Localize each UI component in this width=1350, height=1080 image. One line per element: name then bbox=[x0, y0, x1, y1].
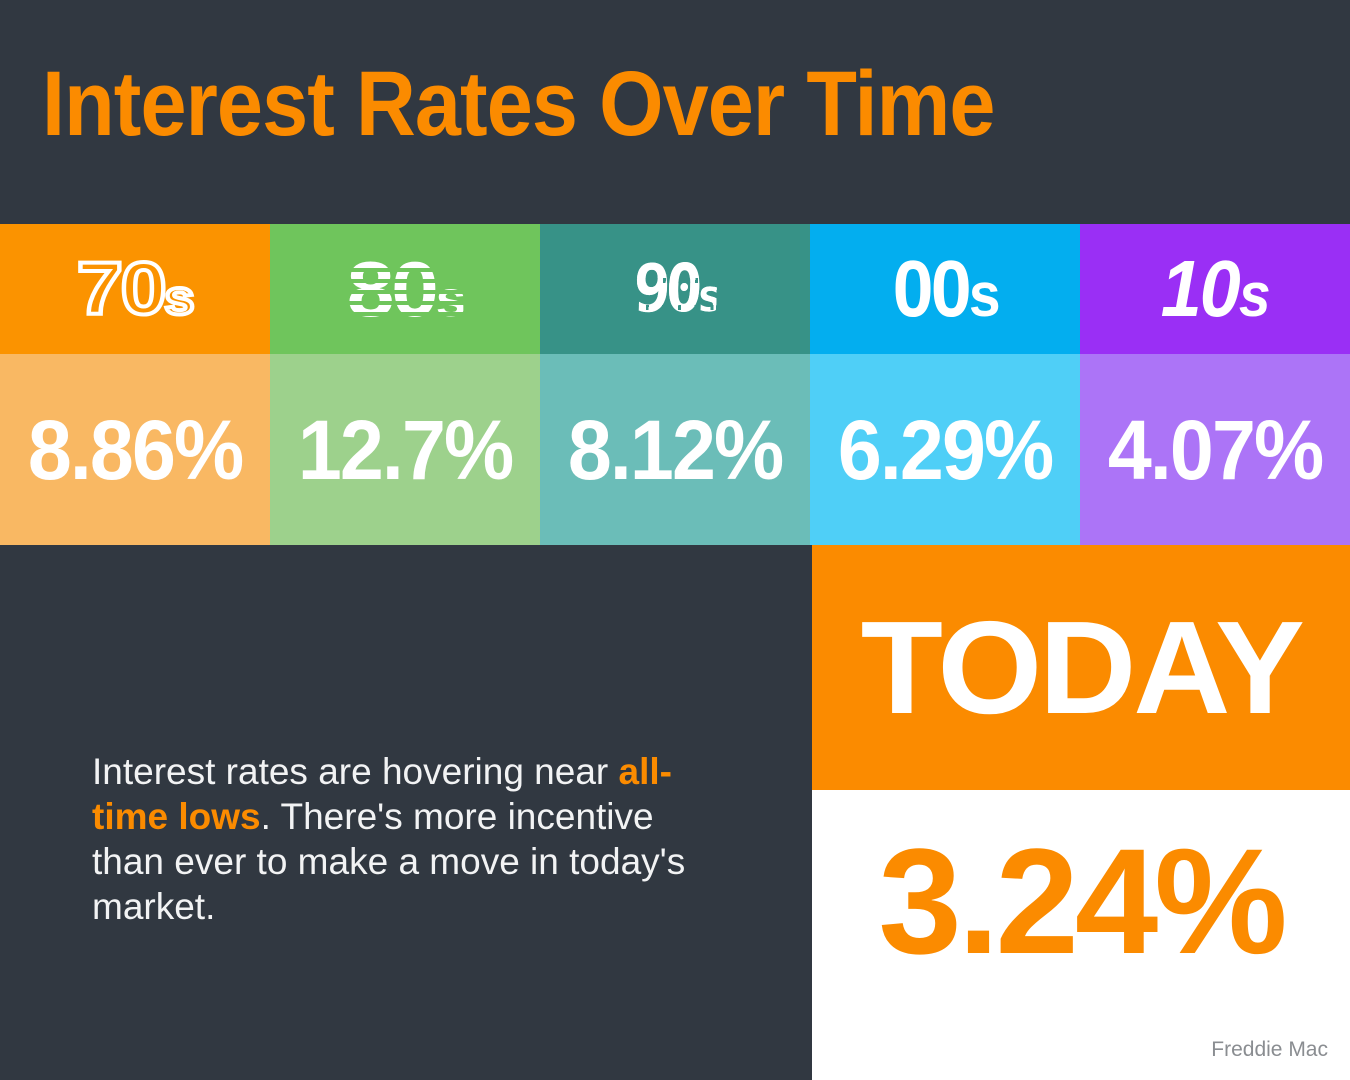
decade-header-00s: 00s bbox=[810, 224, 1080, 354]
today-rate-value: 3.24% bbox=[812, 826, 1350, 976]
today-label-panel: TODAY bbox=[812, 545, 1350, 790]
decade-value-cell-00s: 6.29% bbox=[810, 354, 1080, 545]
decade-rate-90s: 8.12% bbox=[568, 408, 782, 492]
decade-header-80s: 80s bbox=[270, 224, 540, 354]
decade-value-cell-90s: 8.12% bbox=[540, 354, 810, 545]
decade-value-cell-70s: 8.86% bbox=[0, 354, 270, 545]
infographic-canvas: Interest Rates Over Time 70s 80s 90s 00s bbox=[0, 0, 1350, 1080]
decade-rate-70s: 8.86% bbox=[28, 408, 242, 492]
decade-header-90s: 90s bbox=[540, 224, 810, 354]
page-title: Interest Rates Over Time bbox=[42, 56, 995, 152]
decade-rate-80s: 12.7% bbox=[298, 408, 512, 492]
decade-header-70s: 70s bbox=[0, 224, 270, 354]
decade-rate-00s: 6.29% bbox=[838, 408, 1052, 492]
decade-label-70s: 70s bbox=[77, 252, 192, 326]
decade-label-80s: 80s bbox=[347, 250, 463, 328]
decade-value-cell-10s: 4.07% bbox=[1080, 354, 1350, 545]
source-attribution: Freddie Mac bbox=[1211, 1038, 1328, 1062]
decade-value-cell-80s: 12.7% bbox=[270, 354, 540, 545]
body-copy: Interest rates are hovering near all-tim… bbox=[92, 749, 692, 929]
decade-label-10s: 10s bbox=[1161, 249, 1269, 329]
decade-rate-10s: 4.07% bbox=[1108, 408, 1322, 492]
today-label: TODAY bbox=[860, 602, 1301, 734]
body-copy-lead: Interest rates are hovering near bbox=[92, 751, 619, 792]
title-bar: Interest Rates Over Time bbox=[0, 0, 1350, 224]
decade-label-00s: 00s bbox=[892, 249, 997, 329]
decade-comparison-grid: 70s 80s 90s 00s 10s 8.86% 1 bbox=[0, 224, 1350, 545]
decade-label-90s: 90s bbox=[632, 256, 718, 322]
decade-header-10s: 10s bbox=[1080, 224, 1350, 354]
today-value-panel: 3.24% Freddie Mac bbox=[812, 790, 1350, 1080]
